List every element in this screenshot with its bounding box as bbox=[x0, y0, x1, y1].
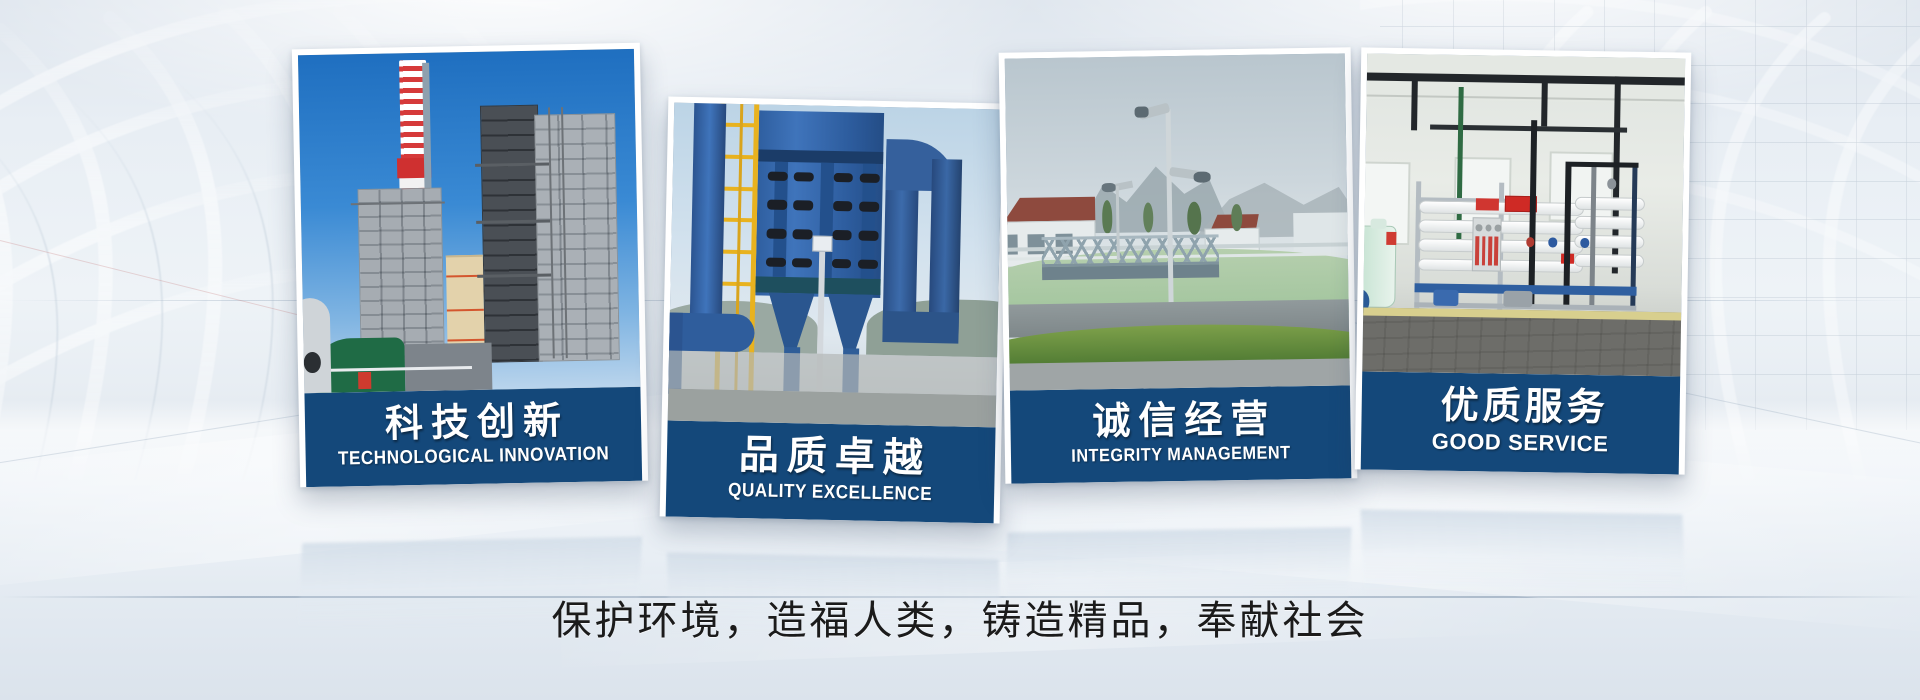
card-photo-3 bbox=[1005, 53, 1350, 390]
card-photo-1 bbox=[298, 49, 640, 393]
scene-dust-collector bbox=[668, 103, 1003, 428]
scene-ro-water-treatment-room bbox=[1362, 54, 1685, 377]
card-band-2: 品质卓越 QUALITY EXCELLENCE bbox=[666, 421, 996, 524]
card-title-cn-3: 诚信经营 bbox=[1010, 397, 1351, 443]
card-technological-innovation[interactable]: 科技创新 TECHNOLOGICAL INNOVATION bbox=[292, 43, 648, 488]
card-good-service[interactable]: 优质服务 GOOD SERVICE bbox=[1355, 47, 1692, 474]
card-title-en-1: TECHNOLOGICAL INNOVATION bbox=[322, 443, 625, 471]
card-title-cn-4: 优质服务 bbox=[1361, 383, 1680, 429]
scene-wastewater-plant bbox=[1005, 53, 1350, 390]
card-photo-2 bbox=[668, 103, 1003, 428]
card-title-cn-2: 品质卓越 bbox=[666, 433, 995, 483]
scene-desulfurization-towers bbox=[298, 49, 640, 393]
card-integrity-management[interactable]: 诚信经营 INTEGRITY MANAGEMENT bbox=[999, 47, 1358, 484]
card-quality-excellence[interactable]: 品质卓越 QUALITY EXCELLENCE bbox=[660, 96, 1009, 523]
card-title-en-2: QUALITY EXCELLENCE bbox=[682, 479, 978, 507]
card-band-4: 优质服务 GOOD SERVICE bbox=[1361, 371, 1681, 474]
card-band-3: 诚信经营 INTEGRITY MANAGEMENT bbox=[1010, 385, 1351, 483]
card-title-en-4: GOOD SERVICE bbox=[1361, 428, 1679, 459]
card-photo-4 bbox=[1362, 54, 1685, 377]
card-title-en-3: INTEGRITY MANAGEMENT bbox=[1028, 442, 1334, 468]
banner-tagline: 保护环境，造福人类，铸造精品，奉献社会 bbox=[0, 588, 1920, 646]
card-title-cn-1: 科技创新 bbox=[305, 399, 642, 446]
banner-stage: 科技创新 TECHNOLOGICAL INNOVATION bbox=[0, 0, 1920, 700]
card-band-1: 科技创新 TECHNOLOGICAL INNOVATION bbox=[304, 387, 642, 487]
